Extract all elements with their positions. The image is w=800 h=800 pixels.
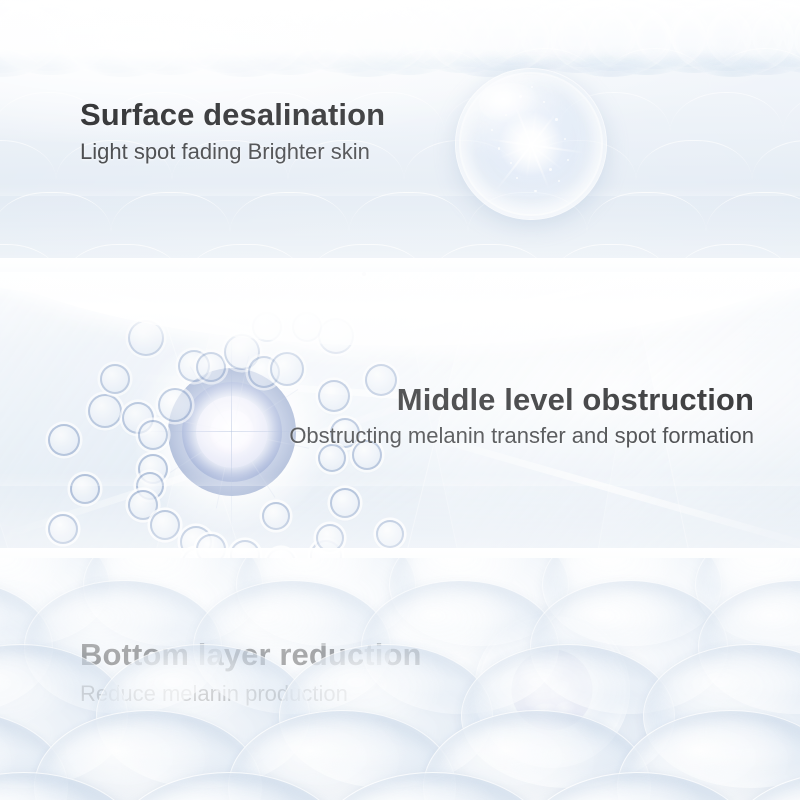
layer-bottom [0,558,800,800]
iris-lens-focus-icon [168,368,296,496]
sparkle-dot [555,118,558,121]
ring-bubble [48,514,78,544]
glass-sphere-starburst-icon [455,68,607,220]
layer-title-surface: Surface desalination [80,96,385,133]
ring-bubble [88,394,122,428]
ring-bubble [292,312,322,342]
ring-bubble [330,488,360,518]
ring-bubble [48,424,80,456]
sparkle-dot [534,190,537,193]
ring-bubble [150,510,180,540]
sparkle-dot [498,147,501,150]
sparkle-dot [505,114,507,116]
ring-bubble [262,502,290,530]
ring-bubble [70,474,100,504]
layer-subtitle-middle: Obstructing melanin transfer and spot fo… [289,421,754,451]
ring-bubble [362,272,366,276]
ring-bubble [138,420,168,450]
ring-bubble [316,524,344,552]
sphere-specular-highlight [479,83,540,123]
ring-bubble [196,534,226,558]
layer-title-middle: Middle level obstruction [289,381,754,418]
ring-bubble [100,364,130,394]
text-block-middle: Middle level obstruction Obstructing mel… [289,381,754,451]
layer-subtitle-surface: Light spot fading Brighter skin [80,137,385,167]
ring-bubble [128,320,164,356]
infographic-canvas: Surface desalination Light spot fading B… [0,0,800,800]
ring-bubble [318,318,354,354]
ring-bubble [376,520,404,548]
ring-bubble [196,352,226,382]
ring-bubble [158,388,192,422]
text-block-surface: Surface desalination Light spot fading B… [80,96,385,167]
ring-bubble [252,312,282,342]
